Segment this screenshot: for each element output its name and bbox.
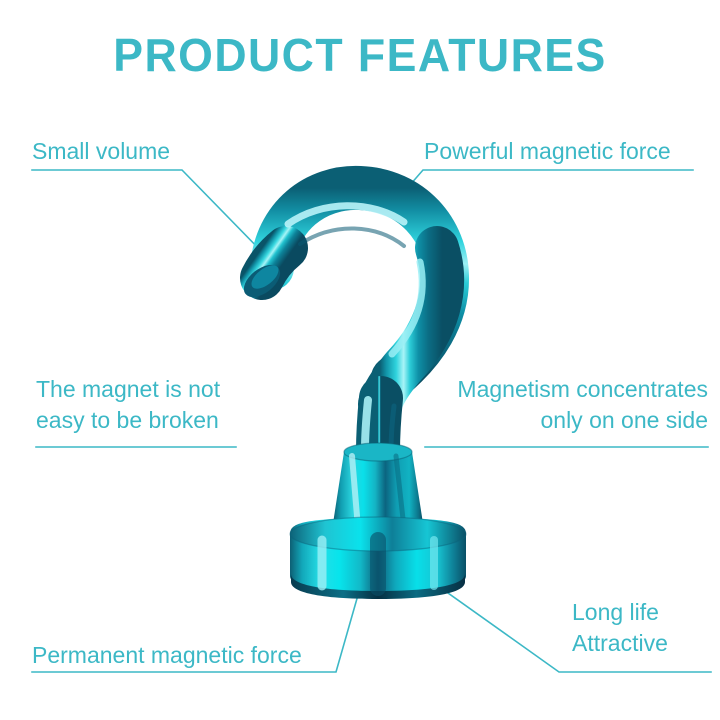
feature-label-magnetism-one-side: Magnetism concentrates only on one side [422,374,708,436]
feature-label-permanent-magnetic-force: Permanent magnetic force [32,640,302,671]
infographic-canvas: PRODUCT FEATURES [0,0,720,720]
feature-label-powerful-magnetic-force: Powerful magnetic force [424,136,671,167]
feature-label-long-life-attractive: Long life Attractive [572,597,668,659]
leader-line-small-volume [32,170,266,256]
feature-label-small-volume: Small volume [32,136,170,167]
feature-label-magnet-not-broken: The magnet is not easy to be broken [36,374,220,436]
leader-line-powerful [396,170,693,201]
